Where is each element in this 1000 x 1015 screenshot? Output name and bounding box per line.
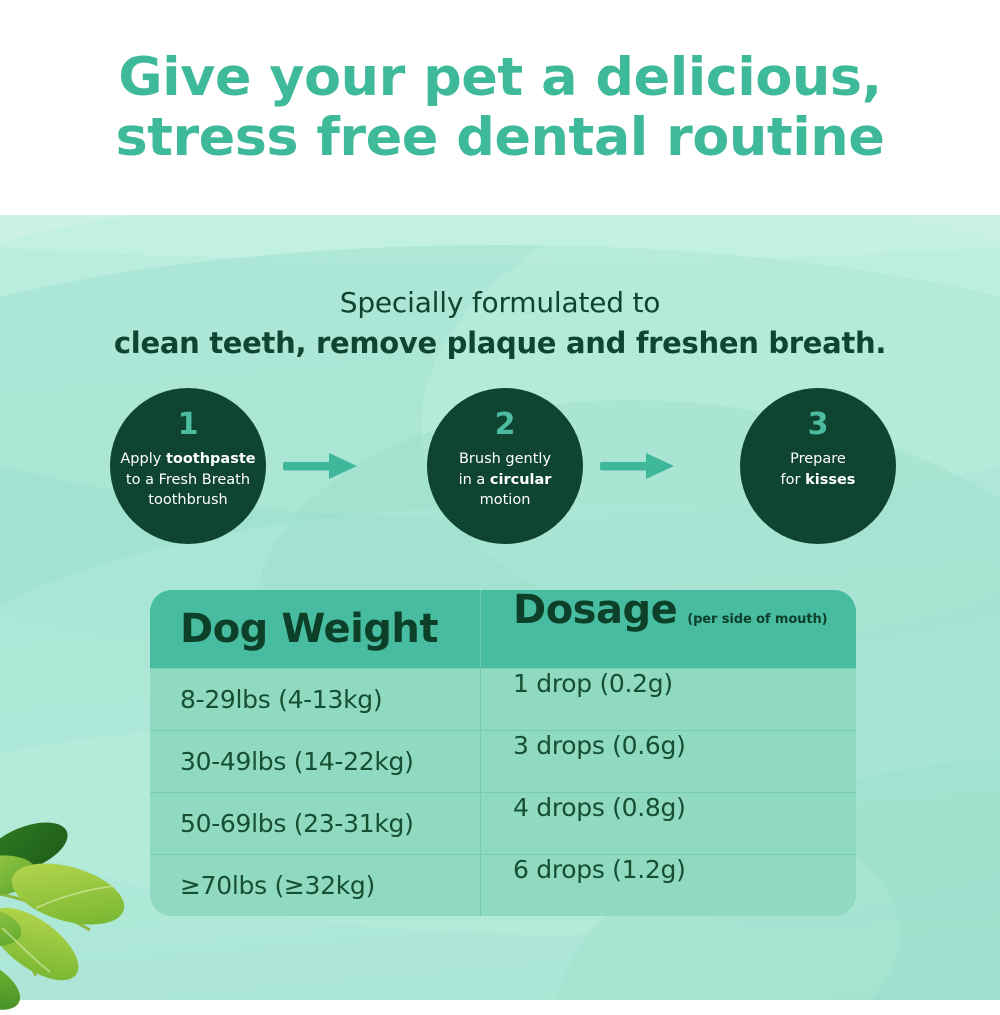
step-text-3: Prepare for kisses <box>771 449 866 490</box>
table-cell-weight: 30-49lbs (14-22kg) <box>150 731 481 792</box>
table-row: 50-69lbs (23-31kg) 4 drops (0.8g) <box>150 792 856 854</box>
cell-dosage-value: 4 drops (0.8g) <box>513 793 686 822</box>
subtitle-line-2: clean teeth, remove plaque and freshen b… <box>0 324 1000 362</box>
dosage-table: Dog Weight Dosage (per side of mouth) 8-… <box>150 590 856 916</box>
table-header-cell-dosage: Dosage (per side of mouth) <box>481 590 856 668</box>
headline-banner: Give your pet a delicious, stress free d… <box>0 0 1000 215</box>
table-cell-dosage: 6 drops (1.2g) <box>481 855 856 916</box>
table-cell-weight: 8-29lbs (4-13kg) <box>150 669 481 730</box>
step-number-2: 2 <box>495 410 516 440</box>
cell-dosage-value: 3 drops (0.6g) <box>513 731 686 760</box>
column-header-dosage: Dosage <box>513 590 677 630</box>
arrow-right-icon-1 <box>283 451 361 481</box>
cell-dosage-value: 6 drops (1.2g) <box>513 855 686 884</box>
step-circle-1: 1 Apply toothpaste to a Fresh Breath too… <box>110 388 266 544</box>
leaf-sprig-decoration <box>0 800 200 1010</box>
page-title: Give your pet a delicious, stress free d… <box>116 48 885 168</box>
table-header-row: Dog Weight Dosage (per side of mouth) <box>150 590 856 668</box>
column-header-dosage-note: (per side of mouth) <box>687 612 827 627</box>
table-cell-dosage: 1 drop (0.2g) <box>481 669 856 730</box>
table-cell-dosage: 4 drops (0.8g) <box>481 793 856 854</box>
step-number-1: 1 <box>178 410 199 440</box>
cell-weight-value: 50-69lbs (23-31kg) <box>180 809 414 838</box>
cell-weight-value: 8-29lbs (4-13kg) <box>180 685 382 714</box>
cell-weight-value: ≥70lbs (≥32kg) <box>180 871 375 900</box>
table-row: 8-29lbs (4-13kg) 1 drop (0.2g) <box>150 668 856 730</box>
step-text-1: Apply toothpaste to a Fresh Breath tooth… <box>110 449 265 511</box>
step-number-3: 3 <box>808 410 829 440</box>
steps-row: 1 Apply toothpaste to a Fresh Breath too… <box>0 388 1000 548</box>
column-header-dog-weight: Dog Weight <box>180 609 438 649</box>
table-header-cell-weight: Dog Weight <box>150 590 481 668</box>
table-row: ≥70lbs (≥32kg) 6 drops (1.2g) <box>150 854 856 916</box>
cell-dosage-value: 1 drop (0.2g) <box>513 669 673 698</box>
subtitle-block: Specially formulated to clean teeth, rem… <box>0 285 1000 362</box>
table-row: 30-49lbs (14-22kg) 3 drops (0.6g) <box>150 730 856 792</box>
arrow-right-icon-2 <box>600 451 678 481</box>
step-circle-3: 3 Prepare for kisses <box>740 388 896 544</box>
table-cell-dosage: 3 drops (0.6g) <box>481 731 856 792</box>
step-text-2: Brush gently in a circular motion <box>449 449 562 511</box>
subtitle-line-1: Specially formulated to <box>0 285 1000 322</box>
step-circle-2: 2 Brush gently in a circular motion <box>427 388 583 544</box>
cell-weight-value: 30-49lbs (14-22kg) <box>180 747 414 776</box>
